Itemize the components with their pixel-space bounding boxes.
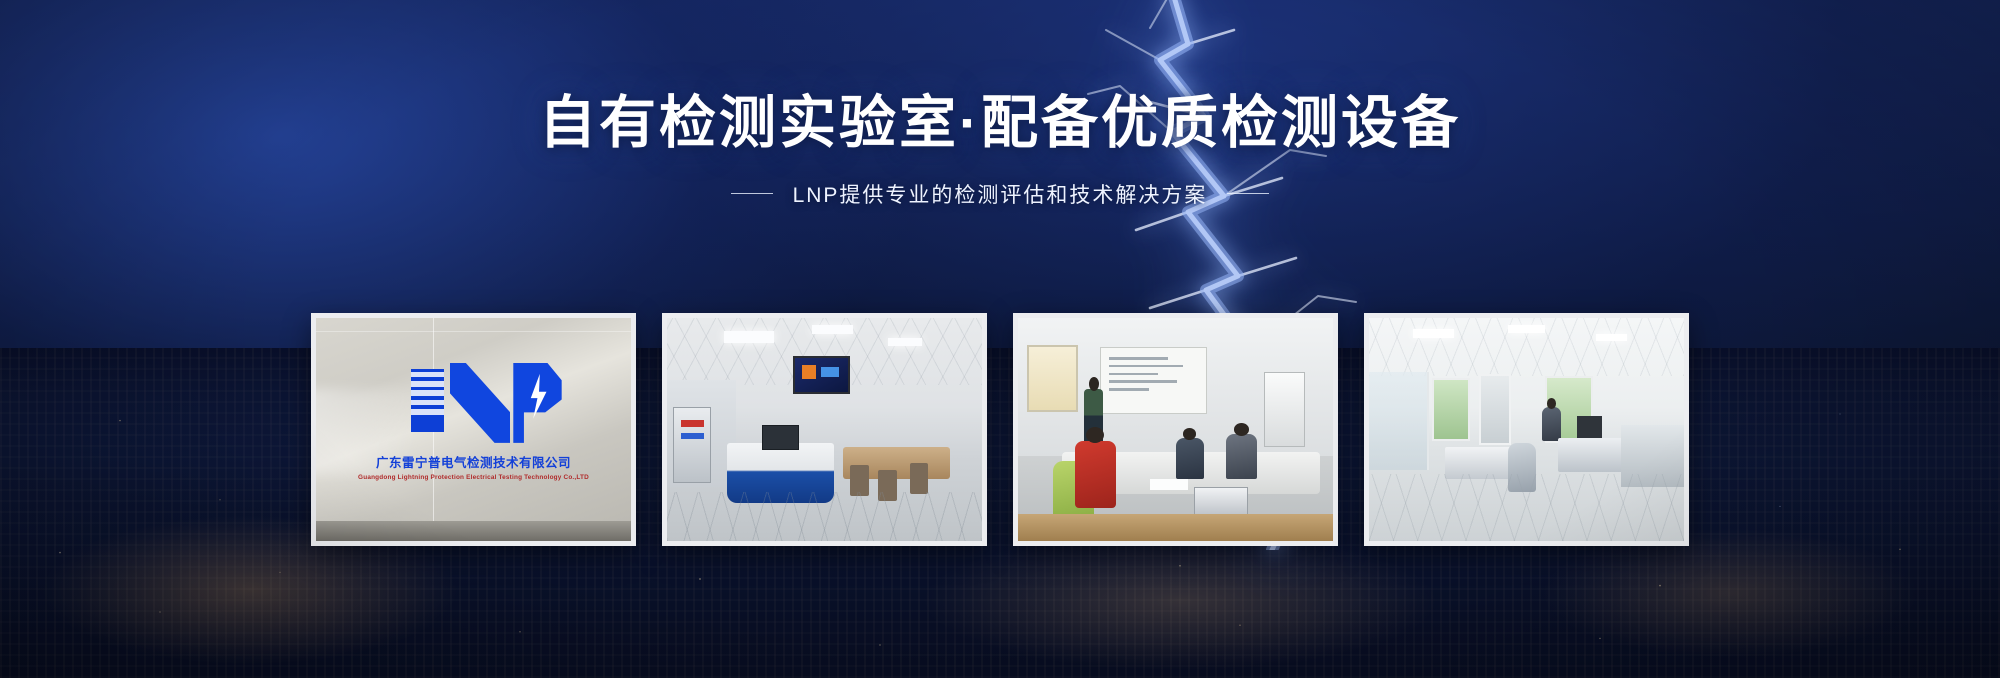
- page-title: 自有检测实验室·配备优质检测设备: [0, 92, 2000, 155]
- ceiling-light: [724, 331, 774, 342]
- cabinet: [1264, 372, 1305, 448]
- hero-subtitle: LNP提供专业的检测评估和技术解决方案: [793, 179, 1208, 209]
- lnp-logo-mark: [411, 363, 562, 443]
- company-name-en: Guangdong Lightning Protection Electrica…: [329, 474, 619, 481]
- projection-screen: [1100, 347, 1207, 414]
- window: [1027, 345, 1077, 412]
- glass-partition: [1369, 372, 1429, 470]
- divider-right: [1227, 193, 1269, 194]
- photo-thumbnail[interactable]: [662, 313, 987, 546]
- attendee-figure: [1176, 438, 1204, 478]
- attendee-figure: [1226, 434, 1258, 479]
- hero-text-block: 自有检测实验室·配备优质检测设备 LNP提供专业的检测评估和技术解决方案: [0, 92, 2000, 209]
- photo-strip: 广东雷宁普电气检测技术有限公司 Guangdong Lightning Prot…: [0, 313, 2000, 546]
- lab-floor: [667, 492, 982, 541]
- city-glow-right: [1540, 528, 1920, 658]
- ceiling-light: [812, 325, 853, 334]
- window: [1432, 378, 1470, 440]
- wall-seam-horizontal: [316, 331, 631, 332]
- hero-banner: 自有检测实验室·配备优质检测设备 LNP提供专业的检测评估和技术解决方案: [0, 0, 2000, 678]
- ceiling-light: [888, 338, 923, 346]
- company-name-cn: 广东雷宁普电气检测技术有限公司: [341, 452, 606, 471]
- documents: [1150, 479, 1188, 490]
- console-monitor: [762, 425, 800, 450]
- ceiling-light: [1596, 334, 1628, 341]
- doorway: [1479, 374, 1511, 445]
- ceiling-light: [1413, 329, 1454, 338]
- logo-bar-stack: [411, 369, 444, 432]
- wood-floor: [1018, 514, 1333, 541]
- lobby-floor: [316, 521, 631, 541]
- attendee-red-jacket: [1075, 441, 1116, 508]
- city-glow-center: [920, 531, 1440, 671]
- chair: [910, 463, 929, 494]
- logo-letter-n: [450, 363, 510, 443]
- office-workspace-image: [1369, 318, 1684, 541]
- lobby-lnp-sign-image: 广东雷宁普电气检测技术有限公司 Guangdong Lightning Prot…: [316, 318, 631, 541]
- desktop-computer: [1577, 416, 1602, 438]
- meeting-presentation-image: [1018, 318, 1333, 541]
- photo-thumbnail[interactable]: 广东雷宁普电气检测技术有限公司 Guangdong Lightning Prot…: [311, 313, 636, 546]
- photo-thumbnail[interactable]: [1364, 313, 1689, 546]
- divider-left: [731, 193, 773, 194]
- hero-subtitle-row: LNP提供专业的检测评估和技术解决方案: [0, 179, 2000, 209]
- tile-floor: [1369, 474, 1684, 541]
- wall-display: [793, 356, 850, 394]
- office-worker: [1542, 407, 1561, 440]
- testing-laboratory-image: [667, 318, 982, 541]
- equipment-cabinet: [673, 407, 711, 483]
- ceiling-light: [1508, 325, 1546, 333]
- photo-thumbnail[interactable]: [1013, 313, 1338, 546]
